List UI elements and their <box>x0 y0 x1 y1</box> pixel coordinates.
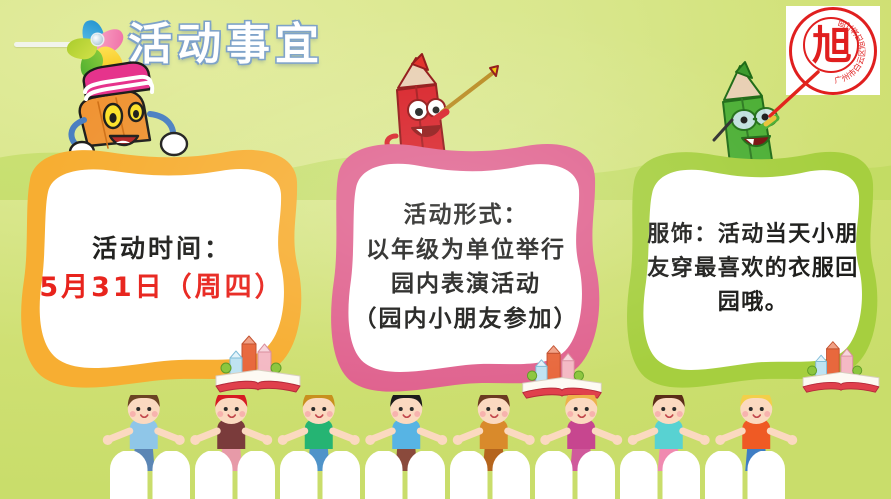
card-line: 园内表演活动 <box>391 267 541 302</box>
card-activity-time: 活动时间： 5月31日（周四） <box>12 140 312 398</box>
fence-post <box>450 451 488 499</box>
card-line: 园哦。 <box>718 286 789 320</box>
open-book-city-icon <box>520 342 604 400</box>
fence-post <box>578 451 616 499</box>
fence-post <box>663 451 701 499</box>
fence-post <box>535 451 573 499</box>
fence-post <box>280 451 318 499</box>
fence-post <box>195 451 233 499</box>
card-activity-format: 活动形式： 以年级为单位举行 园内表演活动 （园内小朋友参加） <box>322 132 610 402</box>
card-line: 服饰：活动当天小朋 <box>647 218 859 252</box>
fence-post <box>153 451 191 499</box>
fence-post <box>365 451 403 499</box>
pinwheel-hub <box>92 34 103 45</box>
fence-post <box>620 451 658 499</box>
card-dress-code: 服饰：活动当天小朋 友穿最喜欢的衣服回 园哦。 <box>620 140 886 398</box>
fence-post <box>408 451 446 499</box>
picket-fence-icon <box>108 451 788 499</box>
card-line: （园内小朋友参加） <box>354 302 579 337</box>
card-line: 活动形式： <box>404 198 529 233</box>
open-book-city-icon <box>800 338 882 394</box>
fence-post <box>238 451 276 499</box>
fence-post <box>705 451 743 499</box>
card-line-highlight: 5月31日（周四） <box>39 268 284 307</box>
fence-post <box>493 451 531 499</box>
fence-post <box>110 451 148 499</box>
card-line: 活动时间： <box>92 231 232 267</box>
fence-post <box>748 451 786 499</box>
fence-post <box>323 451 361 499</box>
open-book-city-icon <box>214 332 302 394</box>
card-line: 以年级为单位举行 <box>366 233 566 268</box>
poster-canvas: 活动事宜 广州市白云区旭日幼儿园 旭 <box>0 0 891 499</box>
card-line: 友穿最喜欢的衣服回 <box>647 252 859 286</box>
